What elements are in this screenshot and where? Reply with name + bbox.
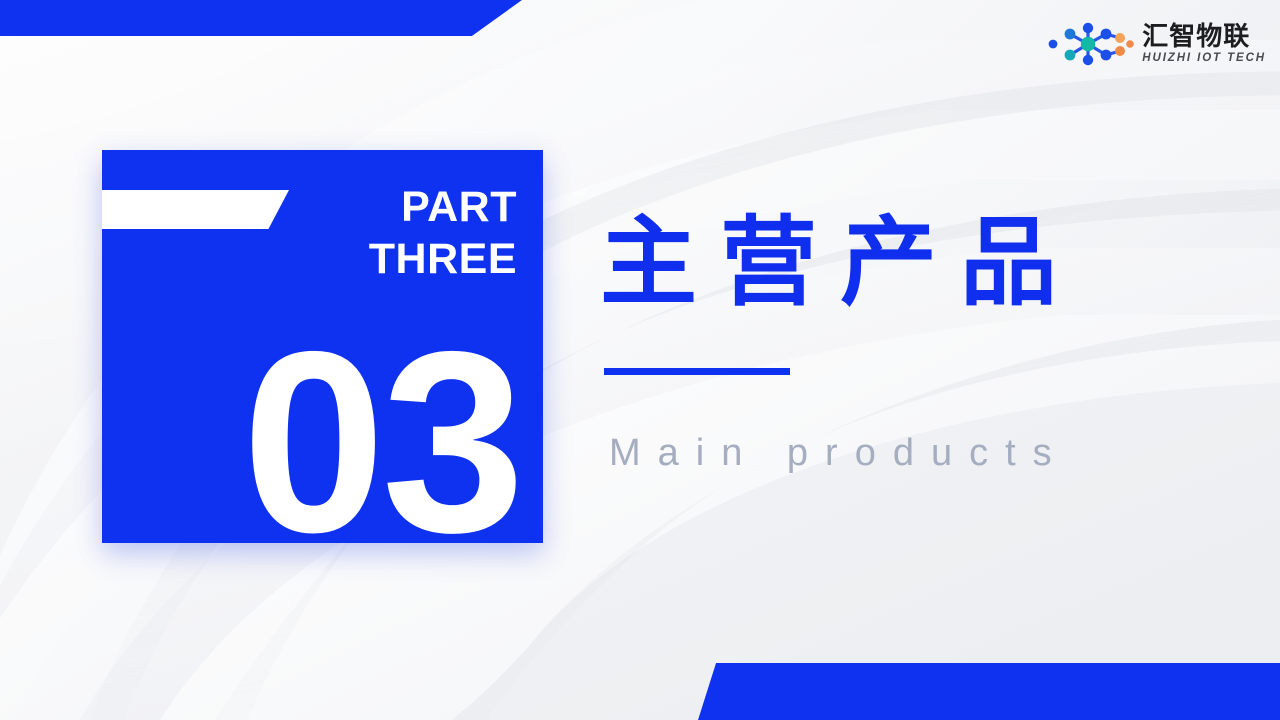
part-label-line1: PART [257, 182, 517, 234]
top-left-accent-bar [0, 0, 522, 36]
logo-name-cn: 汇智物联 [1142, 23, 1266, 49]
logo-name-en: HUIZHI IOT TECH [1142, 53, 1266, 65]
section-title-cn: 主营产品 [600, 212, 1080, 314]
section-title-en: Main products [609, 432, 1069, 475]
molecular-network-icon [1044, 22, 1134, 66]
section-title-divider [604, 368, 790, 375]
part-label: PART THREE [257, 182, 517, 285]
part-label-line2: THREE [257, 234, 517, 286]
bottom-right-accent-bar [698, 663, 1280, 720]
part-number: 03 [242, 313, 521, 571]
part-number-card: PART THREE 03 [102, 150, 543, 543]
company-logo[interactable]: 汇智物联 HUIZHI IOT TECH [1044, 22, 1266, 66]
slide-root: 汇智物联 HUIZHI IOT TECH PART THREE 03 主营产品 … [0, 0, 1280, 720]
